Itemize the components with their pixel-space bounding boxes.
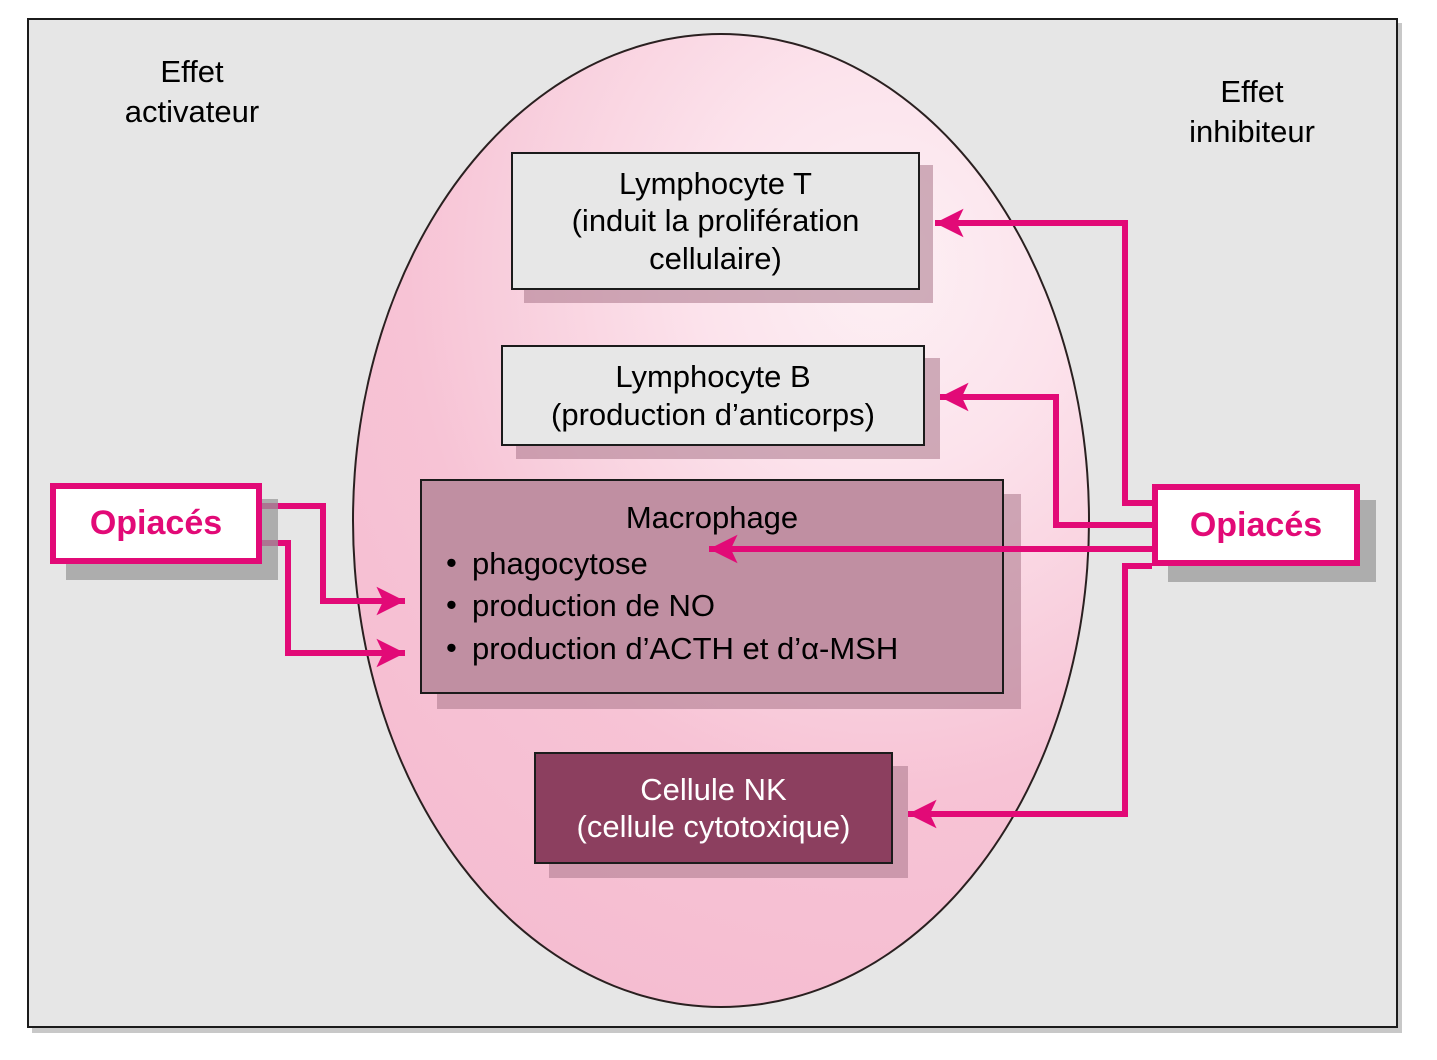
lymphocyte-b-line2: (production d’anticorps) xyxy=(503,396,923,433)
macrophage-function-list: phagocytose production de NO production … xyxy=(422,539,1002,674)
cellule-nk-line2: (cellule cytotoxique) xyxy=(536,808,891,845)
macrophage-item-phagocytose: phagocytose xyxy=(446,546,1002,582)
cellule-nk-line1: Cellule NK xyxy=(536,771,891,808)
node-lymphocyte-b[interactable]: Lymphocyte B (production d’anticorps) xyxy=(501,345,925,446)
macrophage-item-production-no: production de NO xyxy=(446,588,1002,624)
lymphocyte-t-line3: cellulaire) xyxy=(513,240,918,277)
node-opiaces-right[interactable]: Opiacés xyxy=(1152,484,1360,566)
label-effet-activateur: Effet activateur xyxy=(62,52,322,133)
node-opiaces-left[interactable]: Opiacés xyxy=(50,483,262,564)
node-lymphocyte-t[interactable]: Lymphocyte T (induit la prolifération ce… xyxy=(511,152,920,290)
node-cellule-nk[interactable]: Cellule NK (cellule cytotoxique) xyxy=(534,752,893,864)
label-effet-inhibiteur: Effet inhibiteur xyxy=(1122,72,1382,153)
node-macrophage[interactable]: Macrophage phagocytose production de NO … xyxy=(420,479,1004,694)
opiaces-right-label: Opiacés xyxy=(1190,506,1322,545)
macrophage-item-production-acth: production d’ACTH et d’α-MSH xyxy=(446,631,1002,667)
lymphocyte-b-line1: Lymphocyte B xyxy=(503,358,923,395)
macrophage-title: Macrophage xyxy=(422,499,1002,536)
lymphocyte-t-line2: (induit la prolifération xyxy=(513,202,918,239)
lymphocyte-t-line1: Lymphocyte T xyxy=(513,165,918,202)
diagram-canvas: Effet activateur Effet inhibiteur xyxy=(0,0,1437,1060)
opiaces-left-label: Opiacés xyxy=(90,504,222,543)
